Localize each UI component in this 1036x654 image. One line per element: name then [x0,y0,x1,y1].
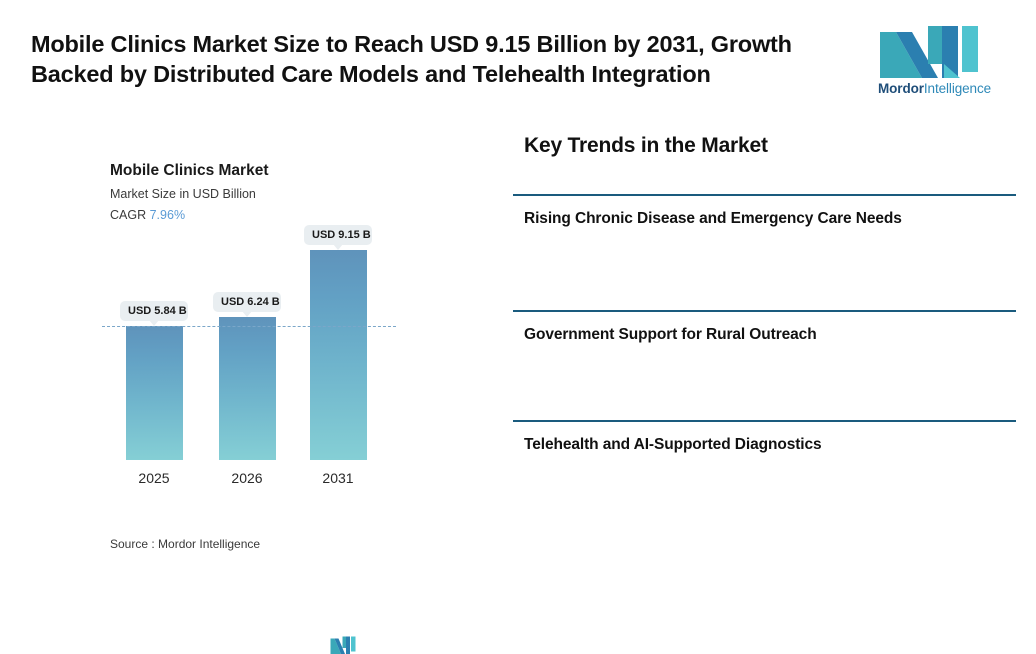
bar-value-chip: USD 6.24 B [213,292,281,312]
trend-divider [513,194,1016,196]
trend-label: Government Support for Rural Outreach [524,326,1016,344]
trend-divider [513,310,1016,312]
cagr-label: CAGR [110,208,146,222]
reference-dashed-line [102,326,396,327]
cagr-value: 7.96% [150,208,185,222]
page-header: Mobile Clinics Market Size to Reach USD … [0,0,1036,112]
page-title: Mobile Clinics Market Size to Reach USD … [31,29,861,89]
x-axis-tick-label: 2031 [308,470,368,486]
trends-heading: Key Trends in the Market [524,134,768,158]
chart-subtitle: Market Size in USD Billion [110,187,256,201]
chart-panel: Mobile Clinics Market Market Size in USD… [0,112,500,571]
mordor-intelligence-mark-icon [330,636,356,654]
trend-label: Rising Chronic Disease and Emergency Car… [524,210,1016,228]
brand-word-intelligence: Intelligence [924,81,991,96]
mordor-intelligence-logo-icon [878,24,982,78]
chart-bar [126,326,183,460]
brand-logo: MordorIntelligence [878,24,986,98]
x-axis-tick-label: 2025 [124,470,184,486]
trend-item-0: Rising Chronic Disease and Emergency Car… [513,194,1016,228]
chart-cagr: CAGR 7.96% [110,208,185,222]
bar-chart-plot: USD 5.84 B2025USD 6.24 B2026USD 9.15 B20… [100,222,410,502]
trend-item-2: Telehealth and AI-Supported Diagnostics [513,420,1016,454]
chart-source: Source : Mordor Intelligence [110,537,260,551]
brand-word-mordor: Mordor [878,81,924,96]
x-axis-tick-label: 2026 [217,470,277,486]
trends-panel: Key Trends in the Market Rising Chronic … [500,112,1036,571]
chart-bar [310,250,367,460]
chart-bar [219,317,276,460]
trend-item-1: Government Support for Rural Outreach [513,310,1016,344]
trend-label: Telehealth and AI-Supported Diagnostics [524,436,1016,454]
bar-value-chip: USD 5.84 B [120,301,188,321]
trend-divider [513,420,1016,422]
brand-wordmark: MordorIntelligence [878,81,986,96]
bar-value-chip: USD 9.15 B [304,225,372,245]
chart-title: Mobile Clinics Market [110,162,268,180]
